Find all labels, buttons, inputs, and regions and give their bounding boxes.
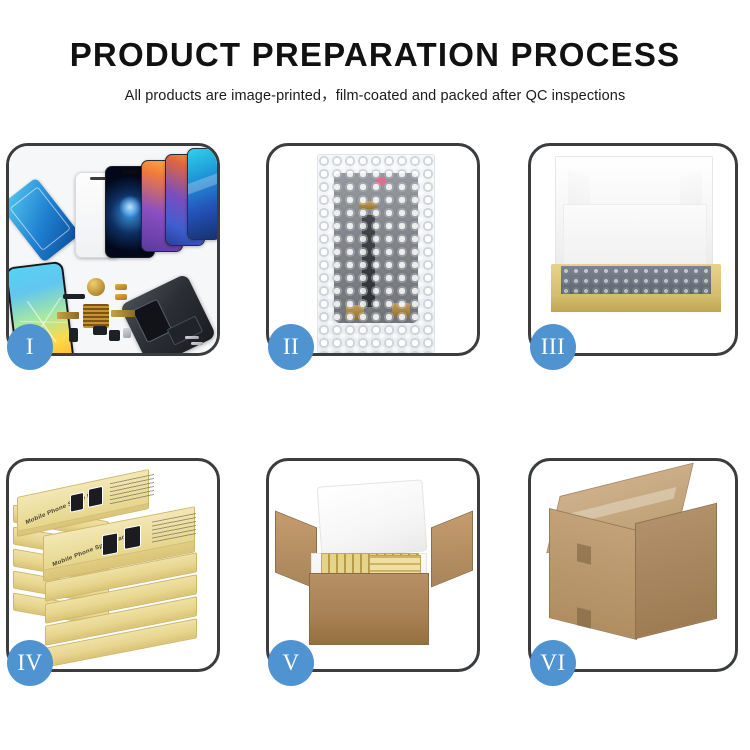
- carton-body-open: [309, 573, 429, 645]
- step-badge-4: IV: [7, 640, 53, 686]
- lcd-connector-top: [359, 201, 377, 209]
- foam-lid-open: [317, 479, 428, 558]
- step-4-image: Mobile Phone Spare Parts Mobile Phone Sp…: [9, 461, 217, 669]
- panel-step-1: [6, 143, 220, 356]
- box-thumbnail-rear-2: [88, 486, 103, 508]
- speaker-part: [109, 330, 120, 341]
- carton-left-face: [549, 508, 637, 640]
- wireless-coil-part: [87, 278, 105, 296]
- panel-step-4: Mobile Phone Spare Parts Mobile Phone Sp…: [6, 458, 220, 672]
- camera-module-part: [69, 328, 78, 342]
- carton-seam-lower: [577, 607, 591, 628]
- step-6-image: [531, 461, 735, 669]
- bubble-wrap-bag: [317, 154, 435, 353]
- step-badge-1-label: I: [26, 334, 34, 360]
- foam-sheet: [563, 204, 707, 270]
- qc-sticker: [376, 177, 386, 185]
- step-badge-5: V: [268, 640, 314, 686]
- flex-connector-part: [115, 284, 127, 290]
- step-badge-6-label: VI: [540, 650, 565, 676]
- lcd-connector-right: [392, 303, 410, 317]
- page-title: PRODUCT PREPARATION PROCESS: [0, 36, 750, 74]
- box-thumbnail-front-2: [124, 525, 141, 550]
- ribbon-cable-part: [57, 312, 79, 319]
- panel-step-5: [266, 458, 480, 672]
- earpiece-mesh-part: [63, 294, 85, 299]
- carton-seam-upper: [577, 543, 591, 564]
- step-badge-2: II: [268, 324, 314, 370]
- step-badge-1: I: [7, 324, 53, 370]
- bubble-wrapped-contents: [561, 266, 711, 294]
- step-3-image: [531, 146, 735, 353]
- header: PRODUCT PREPARATION PROCESS All products…: [0, 0, 750, 105]
- carton-flap-right: [431, 511, 473, 588]
- step-badge-5-label: V: [282, 650, 299, 676]
- step-badge-3-label: III: [541, 334, 565, 360]
- phone-screen-teal: [187, 148, 217, 240]
- step-badge-4-label: IV: [17, 650, 42, 676]
- carton-right-face: [635, 503, 717, 639]
- panel-step-6: [528, 458, 738, 672]
- sim-tray-part: [123, 328, 131, 338]
- lcd-flex-cable: [362, 215, 375, 307]
- step-badge-2-label: II: [283, 334, 299, 360]
- flex-connector-part-2: [115, 294, 127, 300]
- product-preparation-infographic: PRODUCT PREPARATION PROCESS All products…: [0, 0, 750, 750]
- panel-step-2: [266, 143, 480, 356]
- step-2-image: [269, 146, 477, 353]
- screw-part-2: [191, 342, 203, 345]
- screw-part: [185, 336, 199, 339]
- box-stack: Mobile Phone Spare Parts Mobile Phone Sp…: [13, 477, 213, 661]
- box-thumbnail-rear-1: [70, 492, 84, 513]
- vibrator-part: [93, 326, 107, 335]
- lcd-connector-left: [346, 305, 364, 319]
- logic-board-part: [83, 304, 109, 328]
- ribbon-cable-part-2: [111, 310, 135, 317]
- lcd-screen-inside-bag: [334, 173, 418, 323]
- step-5-image: [269, 461, 477, 669]
- yellow-box-front-wall: [551, 294, 721, 312]
- box-thumbnail-front-1: [102, 532, 118, 556]
- step-badge-6: VI: [530, 640, 576, 686]
- step-badge-3: III: [530, 324, 576, 370]
- step-1-image: [9, 146, 217, 353]
- page-subtitle: All products are image-printed，film-coat…: [0, 84, 750, 105]
